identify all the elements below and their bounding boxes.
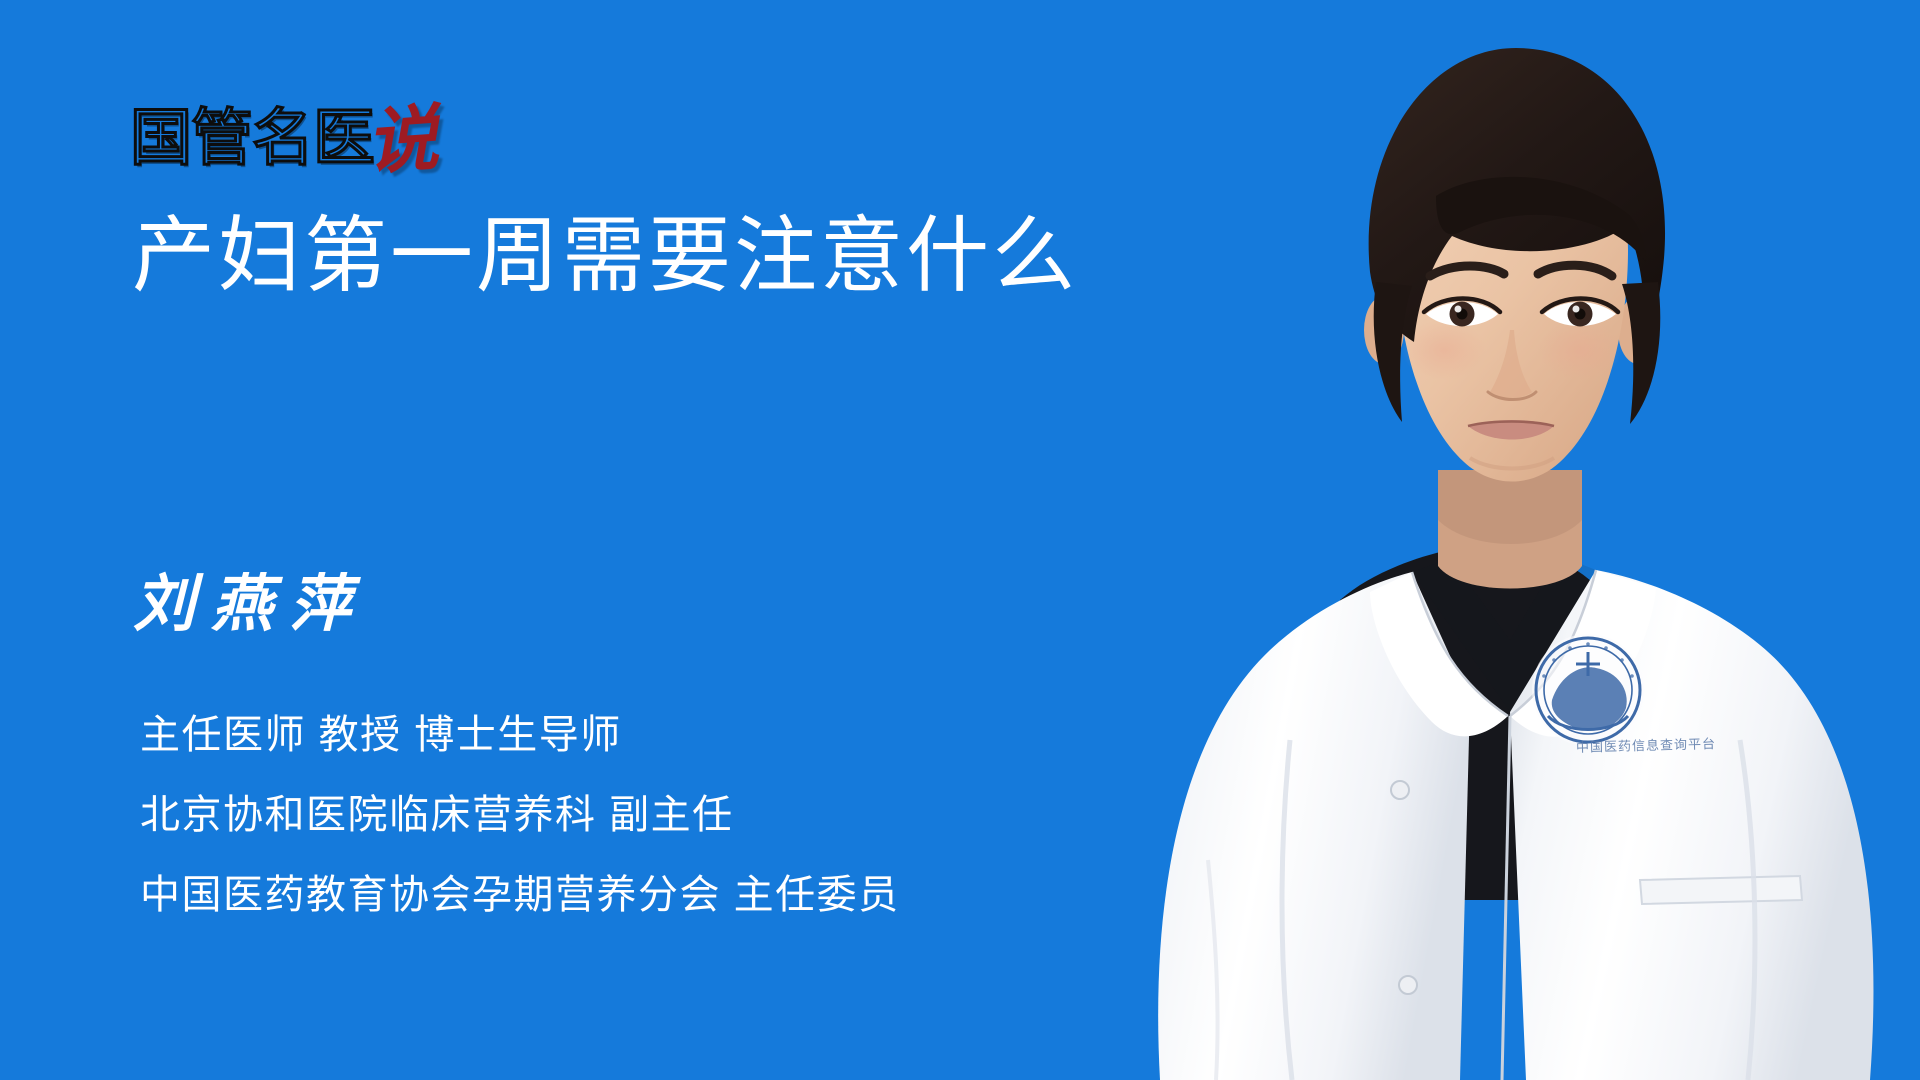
portrait-body: [1158, 544, 1873, 1080]
coat-button: [1399, 976, 1417, 994]
page-title: 产妇第一周需要注意什么: [132, 208, 1078, 304]
speaker-credentials: 主任医师 教授 博士生导师 北京协和医院临床营养科 副主任 中国医药教育协会孕期…: [140, 710, 900, 920]
doctor-portrait: [1040, 0, 1920, 1080]
badge-caption: 中国医药信息查询平台: [1576, 733, 1716, 756]
brand-logo: 国管名医 说: [130, 92, 438, 170]
brand-logo-accent: 说: [364, 108, 440, 175]
brand-logo-main: 国管名医: [130, 108, 374, 170]
video-title-card: 国管名医 说 产妇第一周需要注意什么 刘燕萍 主任医师 教授 博士生导师 北京协…: [0, 0, 1920, 1080]
hospital-badge-icon: [1532, 634, 1644, 746]
portrait-head: [1364, 48, 1665, 482]
credential-line-3: 中国医药教育协会孕期营养分会 主任委员: [140, 870, 900, 920]
credential-line-1: 主任医师 教授 博士生导师: [140, 710, 900, 760]
coat-button: [1391, 781, 1409, 799]
speaker-name: 刘燕萍: [133, 570, 367, 640]
credential-line-2: 北京协和医院临床营养科 副主任: [140, 790, 900, 840]
